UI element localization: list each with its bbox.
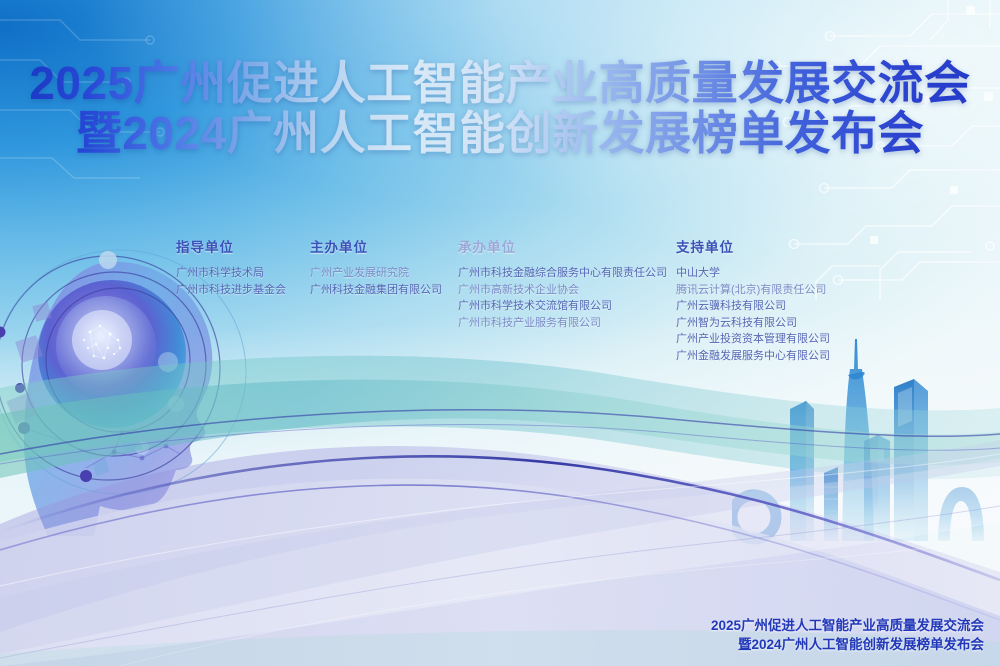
organizing-units-block: 指导单位 广州市科学技术局 广州市科技进步基金会 主办单位 广州产业发展研究院 … [0,236,1000,386]
unit-item: 广州市科学技术局 [176,265,286,282]
unit-item: 广州科技金融集团有限公司 [310,282,442,299]
footer-title-line-2: 暨2024广州人工智能创新发展榜单发布会 [711,635,984,654]
units-column-header: 指导单位 [176,236,286,256]
footer-event-title: 2025广州促进人工智能产业高质量发展交流会 暨2024广州人工智能创新发展榜单… [711,616,984,654]
unit-item: 中山大学 [676,265,830,282]
unit-item: 广州产业发展研究院 [310,265,442,282]
unit-item: 广州市科技产业服务有限公司 [458,315,667,332]
unit-item: 广州市高新技术企业协会 [458,282,667,299]
event-backdrop-banner: 2025广州促进人工智能产业高质量发展交流会 暨2024广州人工智能创新发展榜单… [0,0,1000,666]
units-column-support: 支持单位 中山大学 腾讯云计算(北京)有限责任公司 广州云骥科技有限公司 广州智… [676,236,830,364]
event-title-line-2: 暨2024广州人工智能创新发展榜单发布会 [0,108,1000,158]
units-column-host: 主办单位 广州产业发展研究院 广州科技金融集团有限公司 [310,236,442,298]
unit-item: 广州云骥科技有限公司 [676,298,830,315]
units-column-guiding: 指导单位 广州市科学技术局 广州市科技进步基金会 [176,236,286,298]
units-column-header: 承办单位 [458,236,667,256]
unit-item: 广州市科技金融综合服务中心有限责任公司 [458,265,667,282]
event-title: 2025广州促进人工智能产业高质量发展交流会 暨2024广州人工智能创新发展榜单… [0,58,1000,158]
units-column-header: 主办单位 [310,236,442,256]
units-column-header: 支持单位 [676,236,830,256]
unit-item: 腾讯云计算(北京)有限责任公司 [676,282,830,299]
unit-item: 广州市科学技术交流馆有限公司 [458,298,667,315]
units-column-organizer: 承办单位 广州市科技金融综合服务中心有限责任公司 广州市高新技术企业协会 广州市… [458,236,667,331]
unit-item: 广州金融发展服务中心有限公司 [676,348,830,365]
footer-title-line-1: 2025广州促进人工智能产业高质量发展交流会 [711,616,984,635]
event-title-line-1: 2025广州促进人工智能产业高质量发展交流会 [0,58,1000,108]
unit-item: 广州智为云科技有限公司 [676,315,830,332]
unit-item: 广州产业投资资本管理有限公司 [676,331,830,348]
unit-item: 广州市科技进步基金会 [176,282,286,299]
